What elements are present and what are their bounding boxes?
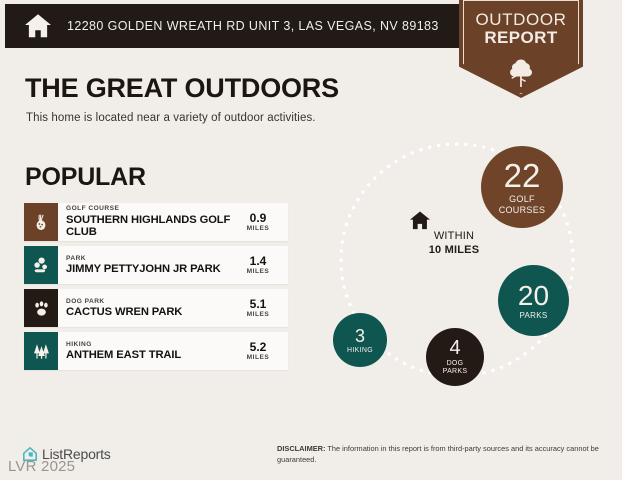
badge-text: OUTDOOR REPORT: [459, 11, 583, 48]
lvr-watermark: LVR 2025: [8, 458, 75, 475]
bubble-count: 20: [518, 282, 549, 310]
list-item-body: GOLF COURSE SOUTHERN HIGHLANDS GOLF CLUB: [58, 203, 234, 241]
radius-label: 10 MILES: [409, 244, 499, 258]
list-item-distance: 1.4 MILES: [234, 246, 288, 284]
list-item[interactable]: PARK JIMMY PETTYJOHN JR PARK 1.4 MILES: [24, 246, 288, 284]
list-item-name: JIMMY PETTYJOHN JR PARK: [66, 263, 234, 276]
bubble-label: HIKING: [347, 347, 373, 354]
outdoor-report-badge: OUTDOOR REPORT: [459, 0, 583, 98]
bubble-label-line1: DOG: [447, 360, 464, 367]
diagram-center-label: WITHIN 10 MILES: [409, 210, 499, 258]
list-item-name: ANTHEM EAST TRAIL: [66, 349, 234, 362]
list-item-name: CACTUS WREN PARK: [66, 306, 234, 319]
paw-icon: [24, 289, 58, 327]
badge-line2: REPORT: [459, 29, 583, 47]
tree-icon: [508, 58, 534, 88]
page-subtitle: This home is located near a variety of o…: [26, 112, 316, 124]
bubble-label: DOG PARKS: [443, 360, 468, 377]
section-heading-popular: POPULAR: [25, 163, 146, 192]
distance-unit: MILES: [247, 268, 270, 275]
golf-icon: [24, 203, 58, 241]
home-icon: [409, 210, 499, 230]
list-item-category: DOG PARK: [66, 298, 234, 306]
bubble-count: 3: [355, 327, 365, 345]
list-item-body: PARK JIMMY PETTYJOHN JR PARK: [58, 246, 234, 284]
list-item-distance: 5.2 MILES: [234, 332, 288, 370]
disclaimer: DISCLAIMER: The information in this repo…: [277, 444, 599, 465]
distance-value: 5.1: [250, 298, 267, 311]
bubble-dog-parks[interactable]: 4 DOG PARKS: [426, 328, 484, 386]
disclaimer-text: The information in this report is from t…: [277, 444, 599, 464]
bubble-hiking[interactable]: 3 HIKING: [333, 313, 387, 367]
distance-value: 5.2: [250, 341, 267, 354]
bubble-label-line1: GOLF: [509, 194, 535, 204]
badge-line1: OUTDOOR: [459, 11, 583, 29]
list-item[interactable]: GOLF COURSE SOUTHERN HIGHLANDS GOLF CLUB…: [24, 203, 288, 241]
outdoor-counts-diagram: 22 GOLF COURSES 20 PARKS 4 DOG PARKS 3 H…: [325, 140, 615, 415]
list-item[interactable]: HIKING ANTHEM EAST TRAIL 5.2 MILES: [24, 332, 288, 370]
distance-unit: MILES: [247, 311, 270, 318]
list-item-category: HIKING: [66, 341, 234, 349]
distance-value: 1.4: [250, 255, 267, 268]
distance-unit: MILES: [247, 225, 270, 232]
page-title: THE GREAT OUTDOORS: [25, 73, 339, 104]
distance-value: 0.9: [250, 212, 267, 225]
list-item-category: PARK: [66, 255, 234, 263]
bubble-count: 22: [504, 159, 541, 192]
home-icon: [23, 11, 53, 41]
pine-trees-icon: [24, 332, 58, 370]
list-item-name: SOUTHERN HIGHLANDS GOLF CLUB: [66, 214, 234, 239]
list-item-body: HIKING ANTHEM EAST TRAIL: [58, 332, 234, 370]
list-item-distance: 0.9 MILES: [234, 203, 288, 241]
popular-list: GOLF COURSE SOUTHERN HIGHLANDS GOLF CLUB…: [24, 203, 288, 375]
report-page: 12280 GOLDEN WREATH RD UNIT 3, LAS VEGAS…: [0, 0, 622, 480]
distance-unit: MILES: [247, 354, 270, 361]
bubble-parks[interactable]: 20 PARKS: [498, 265, 569, 336]
bubble-label: GOLF COURSES: [499, 194, 546, 215]
list-item-category: GOLF COURSE: [66, 205, 234, 213]
bubble-label: PARKS: [519, 312, 547, 320]
list-item-body: DOG PARK CACTUS WREN PARK: [58, 289, 234, 327]
park-icon: [24, 246, 58, 284]
bubble-label-line2: PARKS: [443, 368, 468, 375]
within-label: WITHIN: [409, 230, 499, 244]
bubble-label-line2: COURSES: [499, 205, 546, 215]
disclaimer-label: DISCLAIMER:: [277, 444, 325, 453]
property-address: 12280 GOLDEN WREATH RD UNIT 3, LAS VEGAS…: [67, 19, 439, 33]
list-item[interactable]: DOG PARK CACTUS WREN PARK 5.1 MILES: [24, 289, 288, 327]
list-item-distance: 5.1 MILES: [234, 289, 288, 327]
bubble-count: 4: [449, 338, 460, 358]
